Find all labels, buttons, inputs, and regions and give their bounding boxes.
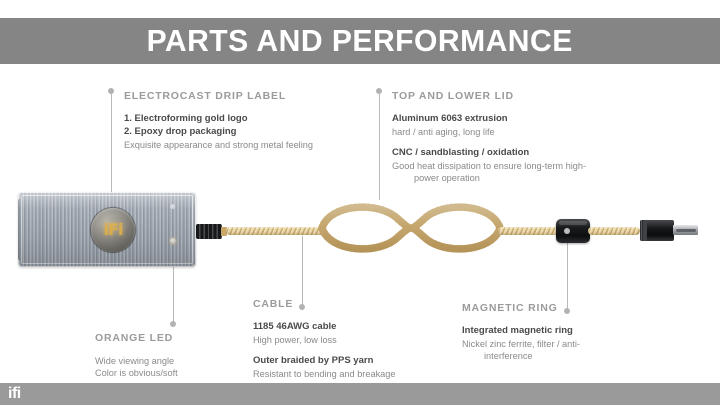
dc-barrel-plug-grip	[640, 220, 647, 241]
callout-title: CABLE	[253, 298, 453, 310]
cable-strain-relief	[196, 224, 222, 239]
callout-cable: CABLE 1185 46AWG cable High power, low l…	[253, 298, 453, 389]
leader-line-magnetic	[567, 234, 568, 311]
page-title: PARTS AND PERFORMANCE	[147, 23, 573, 59]
cable-segment-right	[498, 227, 560, 235]
spec-sub: Wide viewing angle	[95, 355, 275, 367]
spec-block: Aluminum 6063 extrusion hard / anti agin…	[392, 113, 672, 138]
device-left-cap	[18, 198, 23, 261]
callout-title: ORANGE LED	[95, 332, 275, 344]
spec-sub-2: Color is obvious/soft	[95, 367, 275, 379]
magnetic-ring-component	[556, 219, 590, 243]
callout-title: ELECTROCAST DRIP LABEL	[124, 90, 374, 102]
footer-bar: ifi	[0, 383, 720, 405]
callout-magnetic-ring: MAGNETIC RING Integrated magnetic ring N…	[462, 302, 662, 372]
spec-head: Aluminum 6063 extrusion	[392, 113, 672, 126]
spec-sub: hard / anti aging, long life	[392, 126, 672, 138]
callout-title: TOP AND LOWER LID	[392, 90, 672, 102]
spec-block: 1. Electroforming gold logo 2. Epoxy dro…	[124, 113, 374, 151]
spec-sub-continued: interference	[462, 350, 662, 362]
leader-line-lid	[379, 94, 380, 200]
spec-block: Integrated magnetic ring Nickel zinc fer…	[462, 325, 662, 363]
leader-line-cable	[302, 236, 303, 307]
spec-sub-continued: power operation	[392, 172, 672, 184]
orange-led-indicator	[170, 238, 176, 244]
spec-sub: Resistant to bending and breakage	[253, 368, 453, 380]
magnetic-ring-marker-dot	[564, 228, 570, 234]
spec-block: 1185 46AWG cable High power, low loss	[253, 321, 453, 346]
leader-dot-led	[170, 321, 176, 327]
callout-top-and-lower-lid: TOP AND LOWER LID Aluminum 6063 extrusio…	[392, 90, 672, 194]
spec-sub: Good heat dissipation to ensure long-ter…	[392, 160, 672, 172]
device-port-dot	[170, 204, 175, 209]
callout-electrocast-drip-label: ELECTROCAST DRIP LABEL 1. Electroforming…	[124, 90, 374, 160]
spec-head: Integrated magnetic ring	[462, 325, 662, 338]
cable-decorative-loops	[316, 199, 506, 257]
infographic-canvas: PARTS AND PERFORMANCE ELECTROCAST DRIP L…	[0, 0, 720, 405]
spec-sub: Exquisite appearance and strong metal fe…	[124, 139, 374, 151]
spec-head: CNC / sandblasting / oxidation	[392, 147, 672, 160]
dc-barrel-plug-pin-core	[676, 229, 696, 232]
spec-head: 1. Electroforming gold logo	[124, 113, 374, 126]
badge-brand-glyph: iFi	[104, 222, 123, 238]
cable-braid-texture	[322, 207, 500, 249]
electrocast-gold-logo-badge: iFi	[91, 208, 135, 252]
callout-title: MAGNETIC RING	[462, 302, 662, 314]
spec-head: Outer braided by PPS yarn	[253, 355, 453, 368]
callout-orange-led: ORANGE LED Wide viewing angle Color is o…	[95, 332, 275, 389]
cable-segment-plug-side	[588, 227, 640, 235]
spec-block: CNC / sandblasting / oxidation Good heat…	[392, 147, 672, 185]
spec-block: Wide viewing angle Color is obvious/soft	[95, 355, 275, 380]
spec-head: 1185 46AWG cable	[253, 321, 453, 334]
spec-sub: Nickel zinc ferrite, filter / anti-	[462, 338, 662, 350]
spec-block: Outer braided by PPS yarn Resistant to b…	[253, 355, 453, 380]
power-supply-device-body: iFi	[18, 192, 196, 267]
spec-head-2: 2. Epoxy drop packaging	[124, 126, 374, 139]
header-bar: PARTS AND PERFORMANCE	[0, 18, 720, 64]
cable-segment-left	[226, 227, 324, 235]
spec-sub: High power, low loss	[253, 334, 453, 346]
brand-logo: ifi	[8, 386, 21, 402]
